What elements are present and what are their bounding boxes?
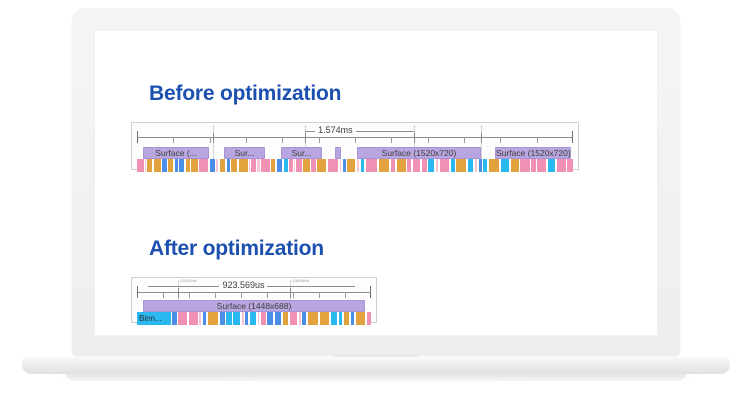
ruler-tick: [163, 292, 164, 298]
frame-segment[interactable]: [344, 312, 349, 325]
frame-segment[interactable]: [407, 159, 411, 172]
micro-timestamp-label: 4,338.000ms: [180, 278, 196, 283]
screenshot-stage: Before optimization 1.574ms Surface (...…: [0, 0, 752, 402]
frame-segment[interactable]: [216, 159, 218, 172]
frame-segment[interactable]: [366, 159, 377, 172]
frame-segment[interactable]: [483, 159, 487, 172]
trace-panel-after[interactable]: 923.569us 4,338.000ms 4,338.500ms Surfac…: [131, 277, 377, 323]
trace-panel-before[interactable]: 1.574ms Surface (...Sur...Sur...Surface …: [131, 122, 579, 170]
frame-segment[interactable]: [168, 159, 173, 172]
heading-after-optimization: After optimization: [149, 237, 324, 261]
ruler-major-tick: [414, 133, 415, 143]
frame-segment[interactable]: [172, 312, 177, 325]
ruler-tick: [241, 292, 242, 298]
frame-segment[interactable]: [199, 159, 208, 172]
frame-segment[interactable]: [451, 159, 455, 172]
frame-segment[interactable]: [331, 312, 337, 325]
frame-segment[interactable]: [290, 312, 297, 325]
frame-segment[interactable]: [220, 312, 225, 325]
frame-segment[interactable]: [299, 312, 301, 325]
frame-segment[interactable]: [251, 159, 256, 172]
ruler-tick: [319, 137, 320, 143]
frame-segment[interactable]: [302, 312, 306, 325]
laptop-base: [22, 357, 730, 374]
frame-segment[interactable]: [189, 312, 198, 325]
frame-segment[interactable]: [231, 159, 237, 172]
frame-segment[interactable]: [520, 159, 530, 172]
frame-segment[interactable]: [343, 159, 346, 172]
ruler-tick: [189, 292, 190, 298]
ruler-tick: [173, 137, 174, 143]
surface-band[interactable]: Sur...: [281, 147, 322, 159]
frame-segment[interactable]: [179, 159, 184, 172]
frame-segment[interactable]: [531, 159, 536, 172]
frame-segment[interactable]: [320, 312, 329, 325]
ruler-end-cap: [572, 131, 573, 143]
ruler-major-tick: [305, 133, 306, 143]
ruler-tick: [391, 137, 392, 143]
frame-segment-labeled[interactable]: Binn...: [137, 312, 171, 325]
frame-segment[interactable]: [296, 159, 302, 172]
frame-segment[interactable]: [479, 159, 482, 172]
frame-segment[interactable]: [261, 312, 266, 325]
ruler-tick: [319, 292, 320, 298]
heading-before-optimization: Before optimization: [149, 82, 341, 106]
surface-band[interactable]: [335, 147, 341, 159]
frame-segment[interactable]: [203, 312, 206, 325]
frame-segment[interactable]: [233, 312, 240, 325]
ruler-major-tick: [290, 288, 291, 298]
track-before[interactable]: Surface (...Sur...Sur...Surface (1520x72…: [137, 147, 573, 169]
frame-segment[interactable]: [145, 159, 146, 172]
frame-segment[interactable]: [422, 159, 427, 172]
micro-timestamp-label: 4,338.500ms: [293, 278, 309, 283]
frame-segment[interactable]: [537, 159, 546, 172]
frame-segment[interactable]: [154, 159, 161, 172]
frame-segment[interactable]: [317, 159, 326, 172]
ruler-tick: [293, 292, 294, 298]
frame-segment[interactable]: [199, 312, 201, 325]
ruler-tick: [355, 137, 356, 143]
frame-segment[interactable]: [220, 159, 225, 172]
span-line: [267, 286, 354, 287]
frame-segment[interactable]: [361, 159, 364, 172]
frame-segment[interactable]: [436, 159, 438, 172]
frame-segment[interactable]: [357, 159, 359, 172]
span-duration-label-after: 923.569us: [219, 280, 267, 291]
frame-segment[interactable]: [284, 159, 288, 172]
frame-segment[interactable]: [557, 159, 566, 172]
frame-segment[interactable]: [210, 159, 215, 172]
frame-segment[interactable]: [257, 159, 260, 172]
frame-strip[interactable]: [137, 159, 573, 172]
span-line: [356, 131, 414, 132]
frame-segment[interactable]: [250, 312, 256, 325]
frame-segment[interactable]: [347, 159, 355, 172]
frame-segment[interactable]: [456, 159, 466, 172]
frame-segment[interactable]: [303, 159, 310, 172]
ruler-tick: [246, 137, 247, 143]
frame-segment[interactable]: [379, 159, 389, 172]
frame-segment[interactable]: [356, 312, 365, 325]
frame-segment[interactable]: [249, 159, 250, 172]
ruler-tick: [215, 292, 216, 298]
surface-band[interactable]: Sur...: [224, 147, 265, 159]
surface-band[interactable]: Surface (1448x688): [143, 300, 365, 312]
frame-segment[interactable]: [397, 159, 406, 172]
ruler-tick: [464, 137, 465, 143]
frame-segment[interactable]: [511, 159, 519, 172]
frame-segment[interactable]: [328, 159, 338, 172]
surface-band[interactable]: Surface (...: [143, 147, 209, 159]
ruler-tick: [282, 137, 283, 143]
ruler-end-cap: [137, 131, 138, 143]
ruler-tick: [500, 137, 501, 143]
frame-segment[interactable]: [186, 159, 190, 172]
surface-band[interactable]: Surface (1520x720): [495, 147, 571, 159]
ruler-after: 923.569us 4,338.000ms 4,338.500ms: [132, 278, 376, 300]
frame-segment[interactable]: [413, 159, 420, 172]
frame-segment[interactable]: [340, 159, 341, 172]
ruler-tick: [210, 137, 211, 143]
ruler-baseline: [137, 292, 371, 293]
frame-segment[interactable]: [175, 159, 178, 172]
frame-segment[interactable]: [242, 312, 244, 325]
frame-segment[interactable]: [351, 312, 354, 325]
frame-segment[interactable]: [501, 159, 509, 172]
frame-segment[interactable]: [294, 159, 295, 172]
frame-segment[interactable]: [277, 159, 282, 172]
ruler-major-tick: [178, 288, 179, 298]
frame-segment[interactable]: [191, 159, 198, 172]
ruler-tick: [537, 137, 538, 143]
span-line: [305, 131, 315, 132]
frame-segment[interactable]: [275, 312, 281, 325]
frame-segment[interactable]: [239, 159, 248, 172]
ruler-tick: [267, 292, 268, 298]
frame-segment[interactable]: [283, 312, 288, 325]
ruler-major-tick: [213, 133, 214, 143]
frame-segment[interactable]: [226, 312, 232, 325]
frame-segment[interactable]: [567, 159, 573, 172]
frame-segment[interactable]: [428, 159, 434, 172]
frame-segment[interactable]: [267, 312, 273, 325]
frame-segment[interactable]: [489, 159, 499, 172]
span-line: [148, 286, 220, 287]
span-duration-label-before: 1.574ms: [315, 125, 356, 136]
ruler-end-cap: [370, 286, 371, 298]
frame-segment[interactable]: [367, 312, 371, 325]
frame-segment[interactable]: [289, 159, 293, 172]
surface-band[interactable]: Surface (1520x720): [357, 147, 481, 159]
frame-strip[interactable]: Binn...: [137, 312, 371, 325]
frame-segment[interactable]: [468, 159, 473, 172]
ruler-major-tick: [481, 133, 482, 143]
frame-segment[interactable]: [308, 312, 318, 325]
frame-segment[interactable]: [227, 159, 230, 172]
frame-segment[interactable]: [162, 159, 167, 172]
frame-segment[interactable]: [178, 312, 187, 325]
ruler-tick: [345, 292, 346, 298]
frame-segment[interactable]: [391, 159, 395, 172]
frame-segment[interactable]: [147, 159, 152, 172]
ruler-tick: [428, 137, 429, 143]
frame-segment[interactable]: [261, 159, 270, 172]
frame-segment[interactable]: [475, 159, 477, 172]
frame-segment[interactable]: [137, 159, 144, 172]
track-after[interactable]: Surface (1448x688)Binn...: [137, 300, 371, 322]
frame-segment[interactable]: [208, 312, 218, 325]
frame-segment[interactable]: [339, 312, 342, 325]
frame-segment[interactable]: [258, 312, 259, 325]
frame-segment[interactable]: [311, 159, 316, 172]
ruler-end-cap: [137, 286, 138, 298]
frame-segment[interactable]: [548, 159, 555, 172]
frame-segment[interactable]: [245, 312, 248, 325]
ruler-before: 1.574ms: [132, 123, 578, 145]
frame-segment[interactable]: [271, 159, 275, 172]
frame-segment[interactable]: [440, 159, 449, 172]
